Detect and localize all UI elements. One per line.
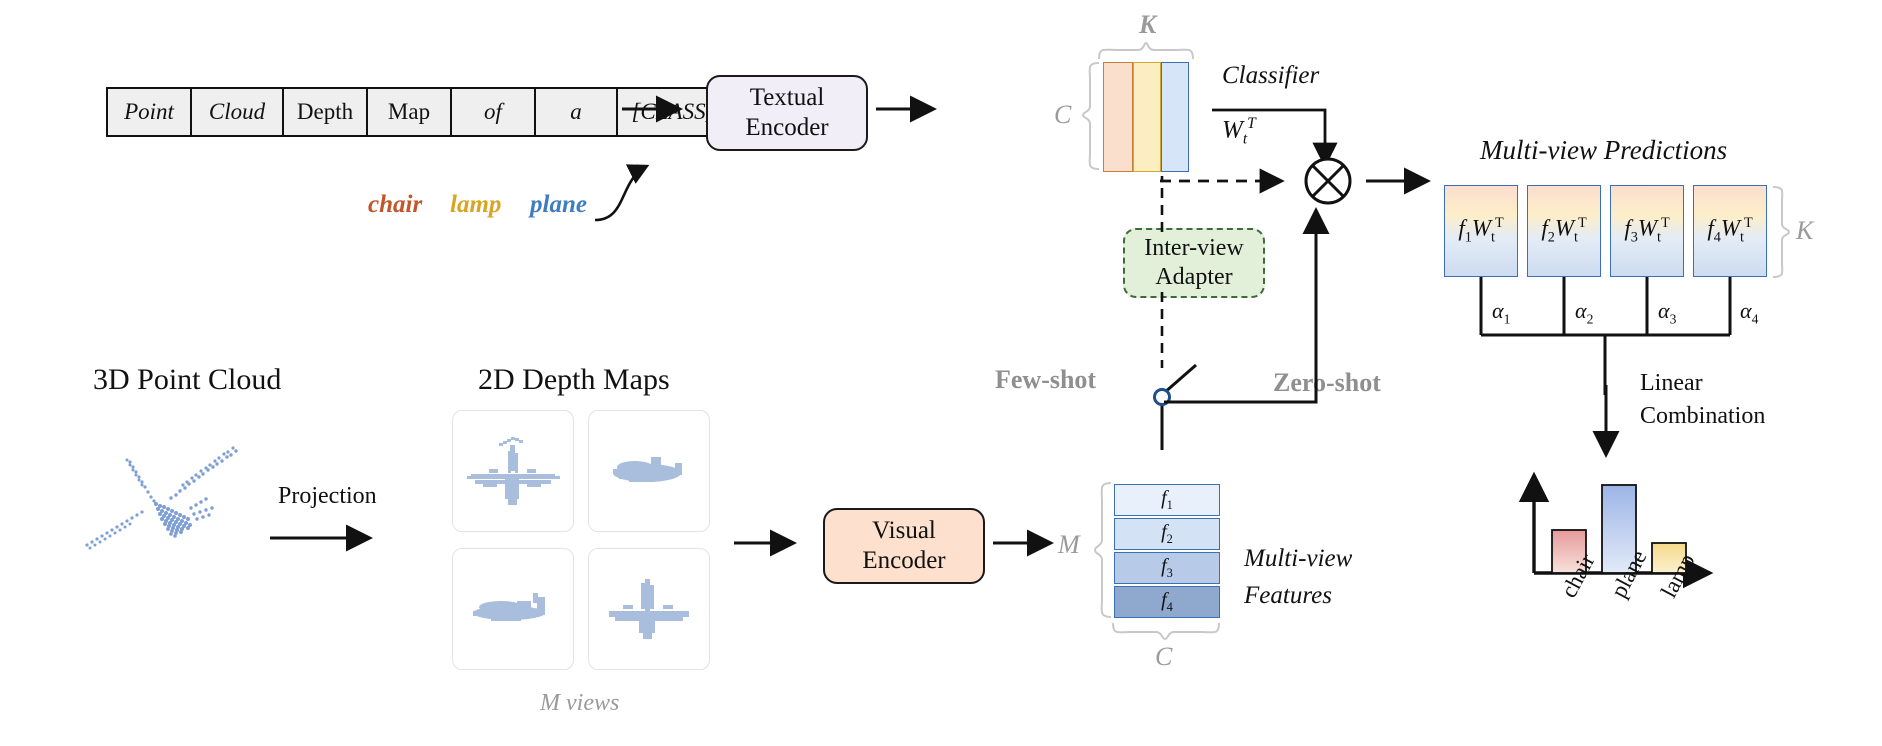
alpha-combination-tree [1440, 277, 1780, 397]
visual-encoder-box[interactable]: Visual Encoder [823, 508, 985, 584]
prediction-box-1-label: f1WtT [1458, 215, 1503, 246]
prompt-cell-map: Map [368, 89, 452, 135]
depth-map-view-1-visual [453, 411, 573, 531]
feature-row-4-label: f4 [1161, 589, 1173, 615]
feature-row-2: f2 [1114, 518, 1220, 550]
depth-map-tile-1[interactable] [452, 410, 574, 532]
prediction-box-4: f4WtT [1693, 185, 1767, 277]
predictions-dim-k-label: K [1796, 216, 1813, 246]
class-word-plane: plane [530, 191, 587, 219]
classifier-left-brace [1082, 62, 1100, 172]
alpha-label-1: α1 [1492, 298, 1510, 327]
prediction-box-3: f3WtT [1610, 185, 1684, 277]
features-bottom-brace [1112, 622, 1222, 640]
arrow-projection [270, 525, 390, 553]
arrow-linear-combination [1593, 385, 1619, 469]
point-cloud-visual [70, 440, 270, 570]
prompt-cell-depth: Depth [284, 89, 368, 135]
classifier-column-lamp [1133, 62, 1161, 172]
alpha-label-3: α3 [1658, 298, 1676, 327]
textual-encoder-box[interactable]: Textual Encoder [706, 75, 868, 151]
depth-map-view-4-visual [589, 549, 709, 669]
prompt-cell-cloud: Cloud [192, 89, 284, 135]
feature-row-1-label: f1 [1161, 487, 1173, 513]
inter-view-adapter-box[interactable]: Inter-view Adapter [1123, 228, 1265, 298]
dashed-line-adapter-top [1155, 176, 1169, 234]
classifier-top-brace [1098, 42, 1194, 60]
depth-map-tile-2[interactable] [588, 410, 710, 532]
multiview-predictions-title: Multi-view Predictions [1480, 135, 1727, 166]
textual-encoder-label-line2: Encoder [745, 113, 828, 144]
classifier-column-plane [1161, 62, 1189, 172]
adapter-label-line2: Adapter [1155, 263, 1232, 292]
prompt-cell-of: of [452, 89, 536, 135]
prediction-box-2: f2WtT [1527, 185, 1601, 277]
m-views-caption: M views [540, 690, 619, 717]
multiply-operator-icon [1301, 154, 1355, 208]
alpha-label-2: α2 [1575, 298, 1593, 327]
visual-encoder-label-line1: Visual [872, 516, 936, 547]
predictions-right-brace [1772, 186, 1790, 278]
depth-maps-title: 2D Depth Maps [478, 363, 670, 397]
feature-row-2-label: f2 [1161, 521, 1173, 547]
features-dim-m-label: M [1058, 530, 1080, 560]
class-word-chair: chair [368, 191, 422, 219]
prediction-box-2-label: f2WtT [1541, 215, 1586, 246]
arrow-zeroshot-to-multiply [1303, 206, 1329, 352]
alpha-label-4: α4 [1740, 298, 1758, 327]
linear-combination-label-line2: Combination [1640, 403, 1765, 430]
depth-map-tile-4[interactable] [588, 548, 710, 670]
feature-row-3-label: f3 [1161, 555, 1173, 581]
classifier-label: Classifier [1222, 62, 1319, 90]
prompt-cell-point: Point [108, 89, 192, 135]
textual-encoder-label-line1: Textual [750, 83, 825, 114]
prediction-box-1: f1WtT [1444, 185, 1518, 277]
multiview-features-caption-line2: Features [1244, 582, 1332, 610]
feature-row-1: f1 [1114, 484, 1220, 516]
figure-canvas: Point Cloud Depth Map of a [CLASS] chair… [0, 0, 1882, 746]
adapter-label-line1: Inter-view [1144, 234, 1243, 263]
arrow-multiply-to-predictions [1366, 168, 1446, 194]
depth-map-tile-3[interactable] [452, 548, 574, 670]
few-shot-label: Few-shot [995, 365, 1096, 395]
linear-combination-label-line1: Linear [1640, 370, 1703, 397]
classifier-column-chair [1103, 62, 1133, 172]
point-cloud-title: 3D Point Cloud [93, 363, 281, 397]
visual-encoder-label-line2: Encoder [862, 546, 945, 577]
classifier-dim-k-label: K [1139, 10, 1156, 40]
prediction-box-3-label: f3WtT [1624, 215, 1669, 246]
arrow-prompt-to-textual-encoder [622, 95, 696, 125]
arrow-textual-encoder-to-classifier [876, 95, 950, 125]
features-dim-c-label: C [1155, 642, 1172, 672]
classifier-matrix [1103, 62, 1189, 172]
multiview-features-caption-line1: Multi-view [1244, 545, 1352, 573]
prediction-box-4-label: f4WtT [1707, 215, 1752, 246]
depth-map-view-2-visual [589, 411, 709, 531]
projection-label: Projection [278, 483, 377, 510]
class-word-lamp: lamp [450, 191, 501, 219]
depth-map-view-3-visual [453, 549, 573, 669]
feature-row-4: f4 [1114, 586, 1220, 618]
features-left-brace [1094, 482, 1112, 620]
dashed-arrow-adapter-to-multiply [1160, 168, 1300, 194]
routing-switch[interactable] [1120, 345, 1360, 460]
class-substitution-arrow [585, 128, 725, 228]
arrow-depthmaps-to-visual-encoder [734, 530, 814, 558]
feature-row-3: f3 [1114, 552, 1220, 584]
classifier-dim-c-label: C [1054, 100, 1071, 130]
